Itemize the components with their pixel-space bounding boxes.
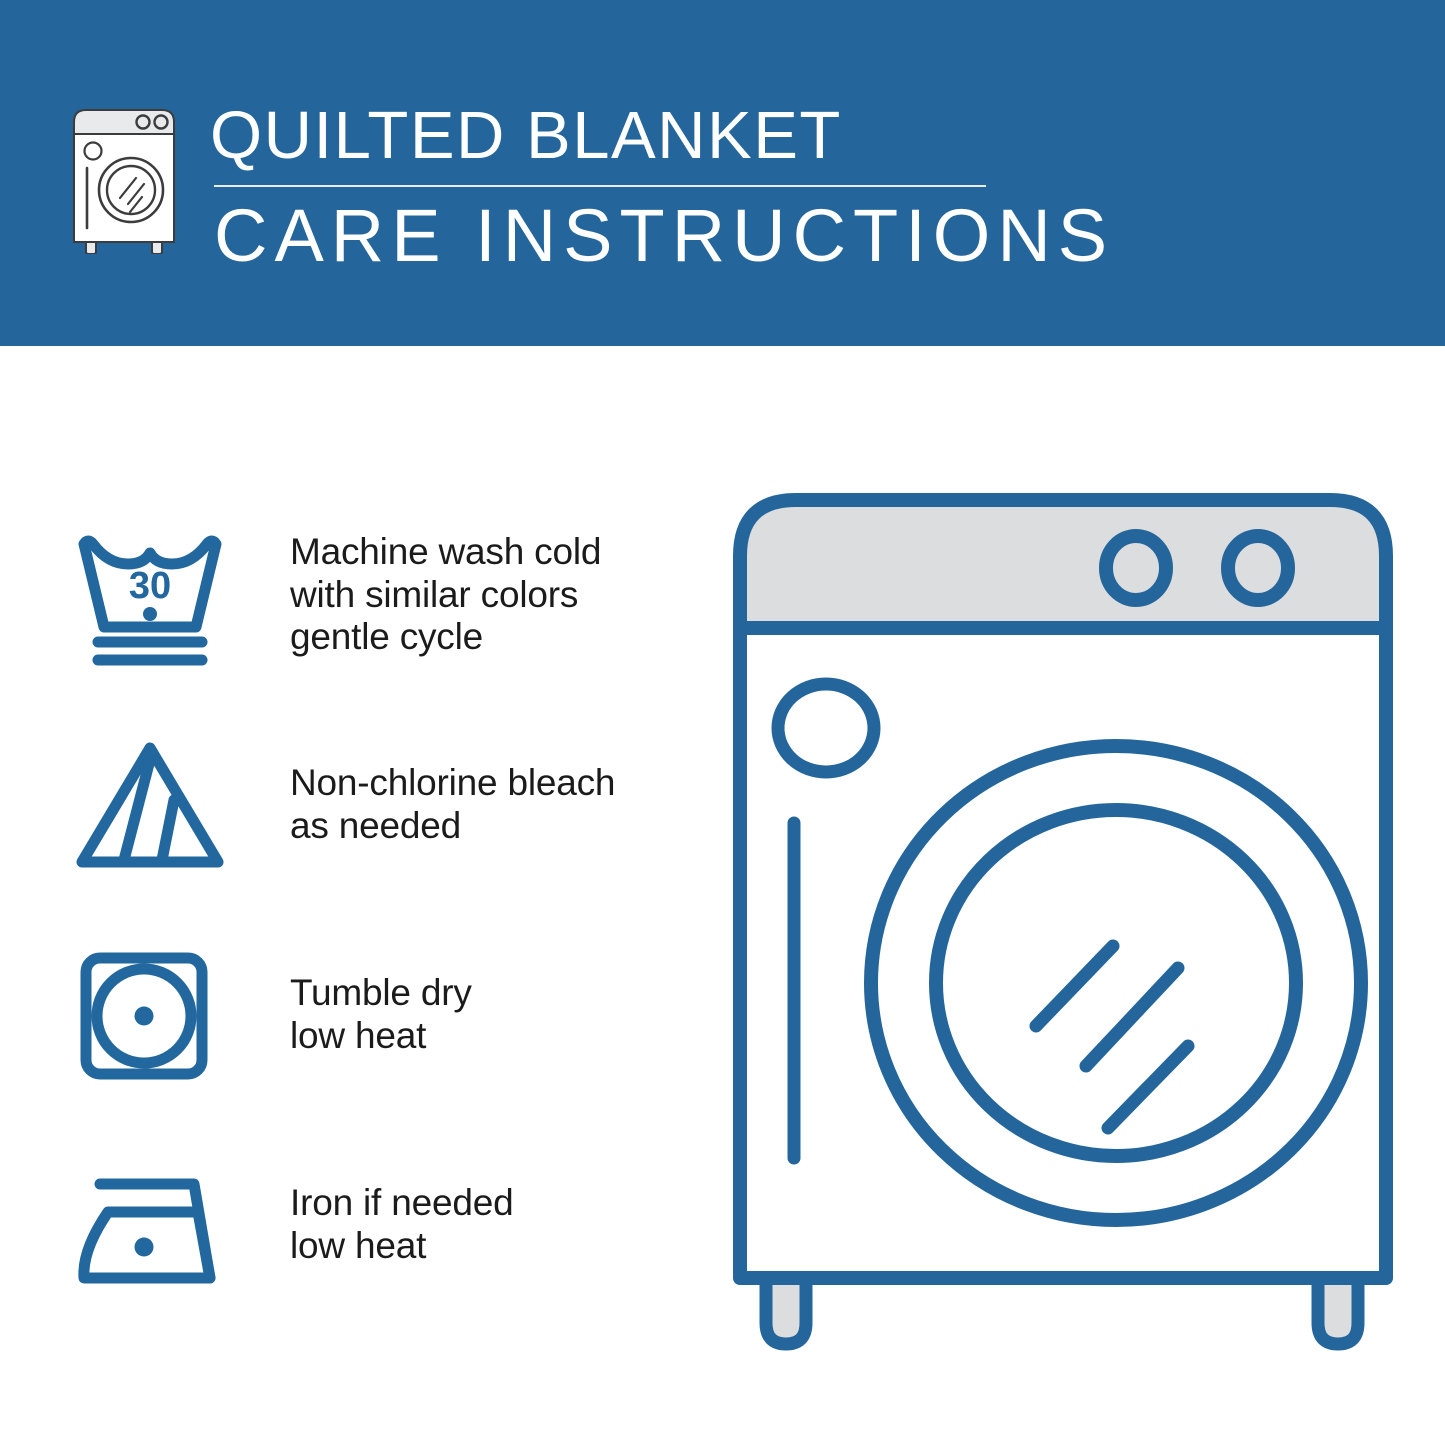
header-content: QUILTED BLANKET CARE INSTRUCTIONS [68,98,1114,273]
bleach-triangle-icon [62,730,238,880]
care-instruction-list: 30 Machine wash cold with similar colors… [62,490,702,1330]
care-instructions-page: QUILTED BLANKET CARE INSTRUCTIONS [0,0,1445,1445]
wash-tub-icon: 30 [62,520,238,670]
care-label-machine-wash: Machine wash cold with similar colors ge… [290,531,601,660]
wash-temperature-value: 30 [129,565,171,607]
iron-icon [62,1150,238,1300]
page-title: QUILTED BLANKET [210,102,1114,169]
tumble-dry-icon [62,940,238,1090]
washing-machine-icon [68,106,180,254]
washing-machine-illustration [718,478,1408,1368]
page-header: QUILTED BLANKET CARE INSTRUCTIONS [0,0,1445,346]
care-row-tumble-dry: Tumble dry low heat [62,910,702,1120]
care-row-iron: Iron if needed low heat [62,1120,702,1330]
care-row-machine-wash: 30 Machine wash cold with similar colors… [62,490,702,700]
title-divider [214,185,986,187]
care-label-iron: Iron if needed low heat [290,1182,513,1268]
care-label-bleach: Non-chlorine bleach as needed [290,762,615,848]
page-subtitle: CARE INSTRUCTIONS [210,199,1114,273]
care-label-tumble-dry: Tumble dry low heat [290,972,472,1058]
header-text-block: QUILTED BLANKET CARE INSTRUCTIONS [210,98,1114,273]
care-row-bleach: Non-chlorine bleach as needed [62,700,702,910]
